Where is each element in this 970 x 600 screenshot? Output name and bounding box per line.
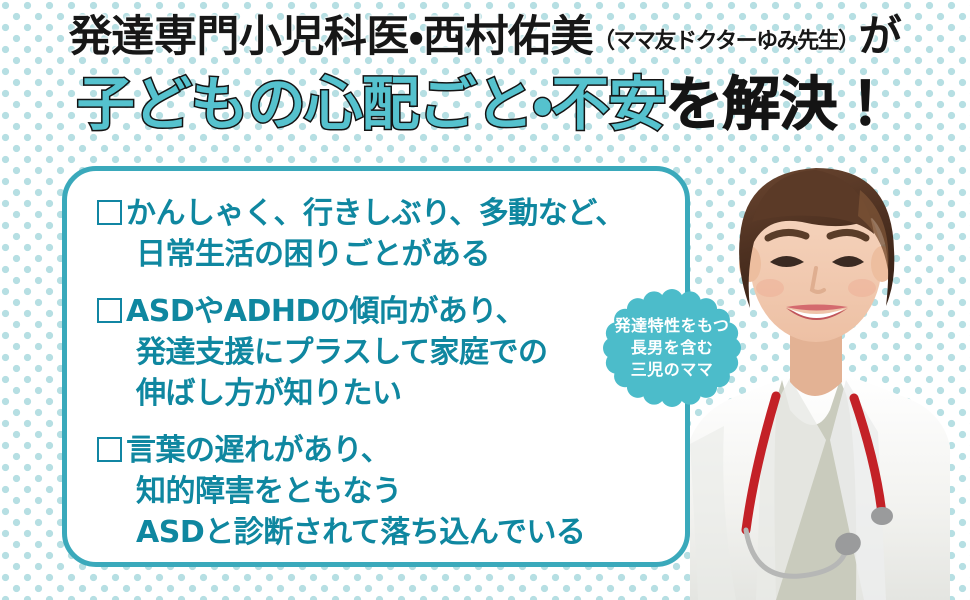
- checklist-line: 言葉の遅れがあり、: [126, 430, 585, 471]
- checklist-line: ASDやADHDの傾向があり、: [126, 291, 548, 332]
- checkbox-icon[interactable]: [97, 437, 122, 462]
- checklist-item-text: ASDやADHDの傾向があり、 発達支援にプラスして家庭での 伸ばし方が知りたい: [126, 291, 548, 414]
- checklist-line: 知的障害をともなう: [126, 471, 585, 512]
- checklist-line: 発達支援にプラスして家庭での: [126, 332, 548, 373]
- checklist-item[interactable]: かんしゃく、行きしぶり、多動など、 日常生活の困りごとがある: [97, 193, 681, 275]
- badge-text: 発達特性をもつ 長男を含む 三児のママ: [596, 286, 748, 410]
- checklist-line: ASDと診断されて落ち込んでいる: [126, 512, 585, 553]
- checklist-item[interactable]: 言葉の遅れがあり、 知的障害をともなう ASDと診断されて落ち込んでいる: [97, 430, 681, 553]
- checklist-item[interactable]: ASDやADHDの傾向があり、 発達支援にプラスして家庭での 伸ばし方が知りたい: [97, 291, 681, 414]
- badge-line: 三児のママ: [631, 359, 714, 381]
- checklist-line: かんしゃく、行きしぶり、多動など、: [126, 193, 625, 234]
- checklist-item-text: かんしゃく、行きしぶり、多動など、 日常生活の困りごとがある: [126, 193, 625, 275]
- stethoscope-earpiece: [871, 507, 893, 525]
- badge-line: 発達特性をもつ: [615, 315, 730, 337]
- doctor-head: [739, 168, 894, 342]
- checklist-line: 日常生活の困りごとがある: [126, 234, 625, 275]
- checklist-item-text: 言葉の遅れがあり、 知的障害をともなう ASDと診断されて落ち込んでいる: [126, 430, 585, 553]
- checkbox-icon[interactable]: [97, 298, 122, 323]
- promo-banner: 発達専門小児科医・西村佑美（ママ友ドクターゆみ先生）が 子どもの心配ごと・不安を…: [0, 0, 970, 600]
- checkbox-icon[interactable]: [97, 200, 122, 225]
- badge-line: 長男を含む: [631, 337, 714, 359]
- badge-starburst: 発達特性をもつ 長男を含む 三児のママ: [596, 286, 748, 410]
- checklist-line: 伸ばし方が知りたい: [126, 373, 548, 414]
